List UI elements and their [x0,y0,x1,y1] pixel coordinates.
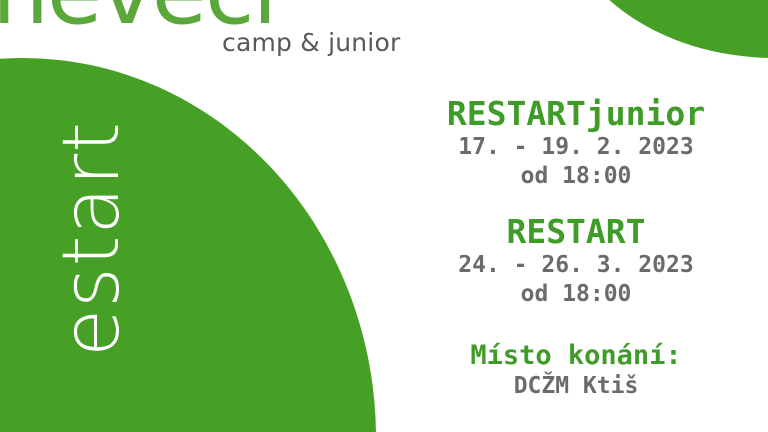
event-title-suffix: junior [586,94,705,133]
event-title-main: RESTART [506,212,645,251]
event-title-junior: RESTARTjunior [384,96,768,133]
event-info-column: RESTARTjunior 17. - 19. 2. 2023 od 18:00… [384,96,768,402]
event-date-junior: 17. - 19. 2. 2023 [384,133,768,162]
poster-canvas: nevěcí camp & junior estart RESTARTjunio… [0,0,768,432]
event-block-main: RESTART 24. - 26. 3. 2023 od 18:00 [384,214,768,310]
logo-block: nevěcí camp & junior [0,0,460,70]
logo-subtitle: camp & junior [222,30,400,55]
event-time-junior: od 18:00 [384,162,768,191]
event-block-junior: RESTARTjunior 17. - 19. 2. 2023 od 18:00 [384,96,768,192]
vertical-side-word: estart [53,29,131,432]
event-title-main: RESTART [447,94,586,133]
event-title-main-block: RESTART [384,214,768,251]
venue-label: Místo konání: [384,340,768,372]
green-blob-top-right [560,0,768,58]
event-date-main: 24. - 26. 3. 2023 [384,251,768,280]
venue-value: DCŽM Ktiš [384,372,768,402]
event-time-main: od 18:00 [384,280,768,309]
venue-block: Místo konání: DCŽM Ktiš [384,340,768,402]
